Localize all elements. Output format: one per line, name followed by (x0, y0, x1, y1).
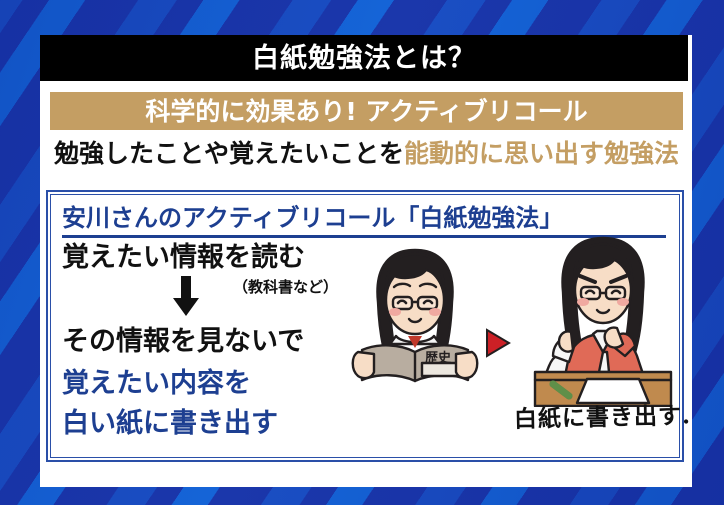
red-right-triangle-icon (485, 328, 511, 358)
method-panel: 安川さんのアクティブリコール「白紙勉強法」 覚えたい情報を読む （教科書など） … (46, 190, 684, 462)
step-note-textbook: （教科書など） (233, 280, 338, 295)
method-panel-heading-label: 安川さんのアクティブリコール「白紙勉強法」 (62, 206, 563, 230)
title-bar: 白紙勉強法とは？ (40, 35, 688, 81)
girl-writing-illustration (513, 232, 693, 407)
girl-reading-textbook-illustration: 歴史 (348, 240, 483, 385)
step-read-information: 覚えたい情報を読む (62, 244, 305, 271)
step-recall-content: 覚えたい内容を (62, 370, 251, 397)
book-label: 歴史 (425, 350, 452, 366)
subtitle-black-part: 勉強したことや覚えたいことを (54, 141, 404, 166)
gold-banner: 科学的に効果あり! アクティブリコール (50, 92, 683, 130)
subtitle-line: 勉強したことや覚えたいことを能動的に思い出す勉強法 (44, 136, 689, 170)
handwritten-caption-label: 白紙に書き出す. (514, 404, 691, 431)
infographic-stage: 白紙勉強法とは？ 科学的に効果あり! アクティブリコール 勉強したことや覚えたい… (0, 0, 724, 505)
gold-banner-label: 科学的に効果あり! アクティブリコール (145, 99, 587, 124)
arrow-down-icon (173, 276, 199, 316)
subtitle-gold-part: 能動的に思い出す勉強法 (404, 141, 679, 166)
step-without-looking: その情報を見ないで (62, 328, 304, 355)
step-write-on-blank-paper: 白い紙に書き出す (62, 410, 278, 437)
page-title: 白紙勉強法とは？ (252, 45, 476, 72)
handwritten-caption: 白紙に書き出す. (508, 397, 698, 437)
